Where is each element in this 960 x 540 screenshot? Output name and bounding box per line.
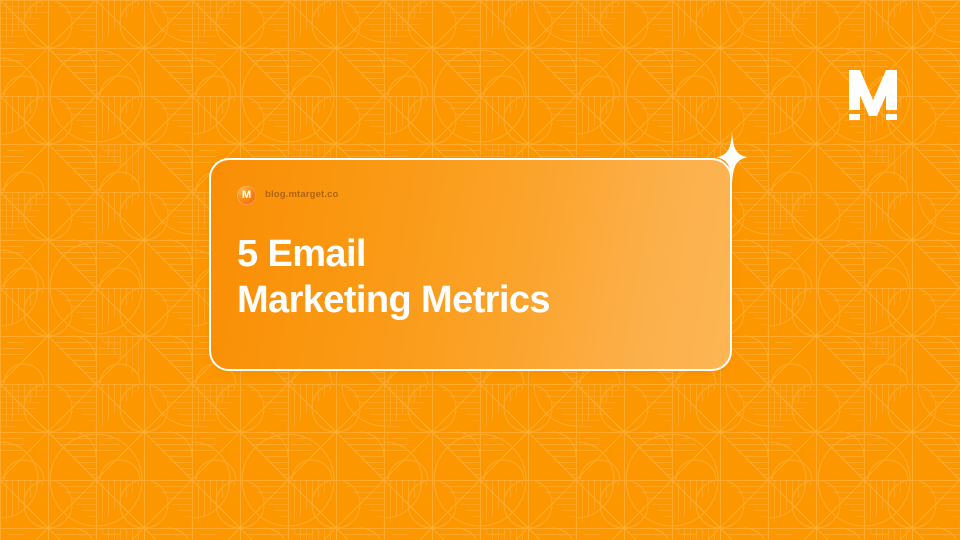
headline-line-1: 5 Email <box>237 232 704 278</box>
promo-card[interactable]: M blog.mtarget.co 5 Email Marketing Metr… <box>209 158 732 371</box>
card-headline: 5 Email Marketing Metrics <box>237 232 704 323</box>
badge-letter: M <box>242 190 251 201</box>
mtarget-m-logo-icon <box>849 70 897 120</box>
promo-card-content: M blog.mtarget.co 5 Email Marketing Metr… <box>211 160 730 369</box>
mtarget-badge-icon: M <box>237 186 256 205</box>
headline-line-2: Marketing Metrics <box>237 278 704 324</box>
source-url: blog.mtarget.co <box>265 190 339 200</box>
source-row: M blog.mtarget.co <box>237 185 704 205</box>
promo-slide: M blog.mtarget.co 5 Email Marketing Metr… <box>0 0 960 540</box>
